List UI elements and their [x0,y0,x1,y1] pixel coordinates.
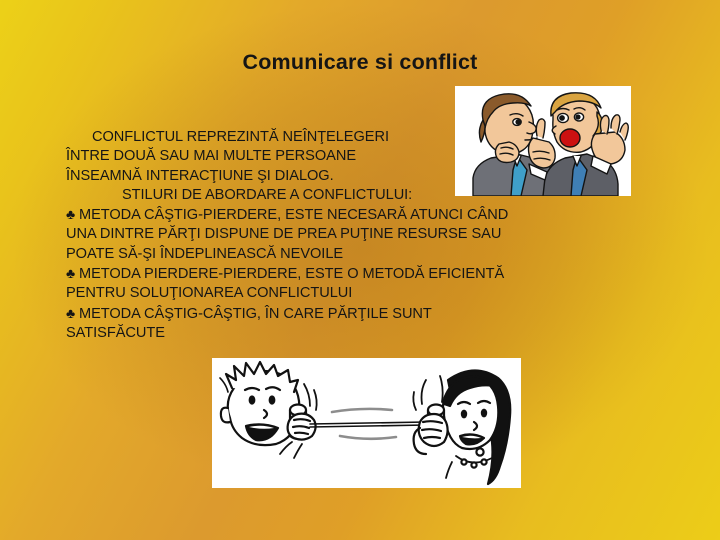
slide-canvas: Comunicare si conflict CONFLICTUL REPREZ… [0,0,720,540]
bullet-line: ♣ METODA CÂŞTIG-CÂŞTIG, ÎN CARE PĂRŢILE … [66,304,666,324]
page-title: Comunicare si conflict [0,48,720,76]
bullet-line: ♣ METODA CÂŞTIG-PIERDERE, ESTE NECESARĂ … [66,205,666,225]
line-text: SATISFĂCUTE [66,325,165,341]
line-text: METODA CÂŞTIG-PIERDERE, ESTE NECESARĂ AT… [79,207,508,223]
line-text: METODA PIERDERE-PIERDERE, ESTE O METODĂ … [79,266,504,282]
club-bullet-icon: ♣ [66,265,79,281]
line-text: METODA CÂŞTIG-CÂŞTIG, ÎN CARE PĂRŢILE SU… [79,306,432,322]
club-bullet-icon: ♣ [66,206,79,222]
bullet-line: ♣ METODA PIERDERE-PIERDERE, ESTE O METOD… [66,264,666,284]
line-text: CONFLICTUL REPREZINTĂ NEÎNŢELEGERI [92,129,389,145]
text-line: SATISFĂCUTE [66,324,666,343]
line-text: ÎNSEAMNĂ INTERACŢIUNE ŞI DIALOG. [66,168,334,184]
line-text: PENTRU SOLUŢIONAREA CONFLICTULUI [66,285,352,301]
line-text: ÎNTRE DOUĂ SAU MAI MULTE PERSOANE [66,148,356,164]
line-text: STILURI DE ABORDARE A CONFLICTULUI: [122,187,412,203]
text-line: PENTRU SOLUŢIONAREA CONFLICTULUI [66,284,666,303]
line-text: POATE SĂ-ŞI ÎNDEPLINEASCĂ NEVOILE [66,246,343,262]
line-text: UNA DINTRE PĂRŢI DISPUNE DE PREA PUŢINE … [66,226,501,242]
club-bullet-icon: ♣ [66,305,79,321]
tin-can-telephone-illustration [212,358,521,488]
two-men-arguing-illustration [455,86,631,196]
text-line: UNA DINTRE PĂRŢI DISPUNE DE PREA PUŢINE … [66,225,666,244]
text-line: POATE SĂ-ŞI ÎNDEPLINEASCĂ NEVOILE [66,245,666,264]
